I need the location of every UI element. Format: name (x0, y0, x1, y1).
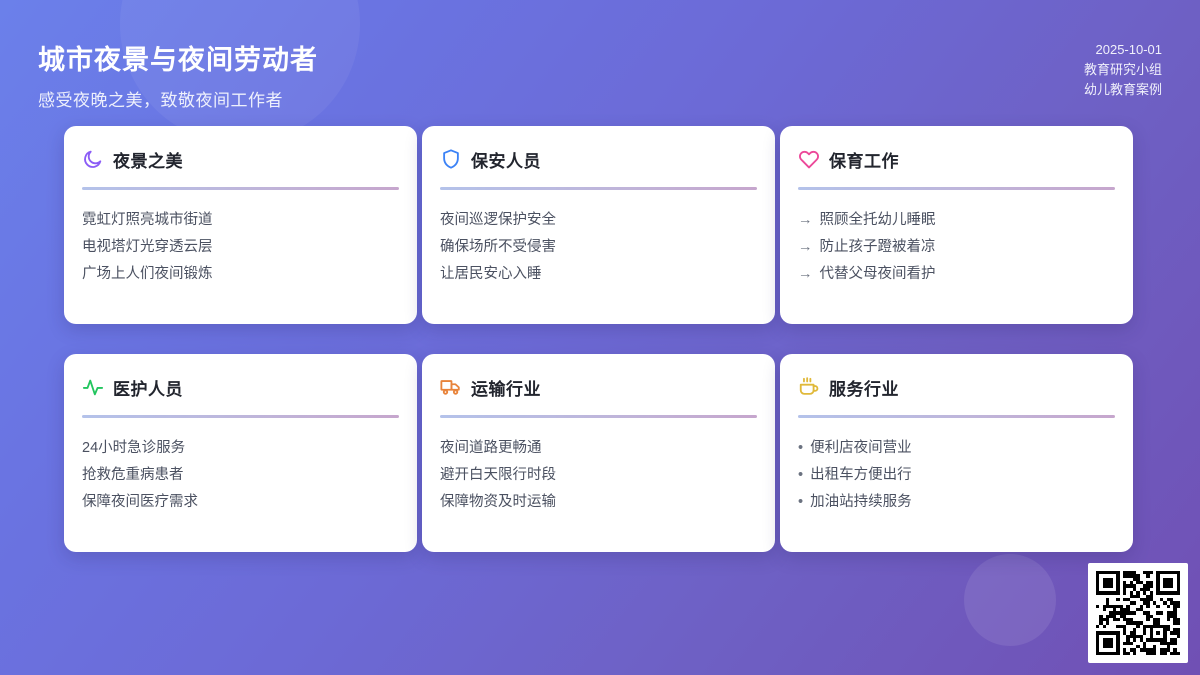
list-item-text: 夜间巡逻保护安全 (440, 207, 556, 234)
list-item-text: 广场上人们夜间锻炼 (82, 261, 213, 288)
list-item: 夜间道路更畅通 (440, 435, 757, 462)
card-item-list: •便利店夜间营业•出租车方便出行•加油站持续服务 (798, 435, 1115, 516)
list-marker: • (798, 462, 803, 489)
list-item-text: 保障夜间医疗需求 (82, 489, 198, 516)
list-item-text: 便利店夜间营业 (810, 435, 912, 462)
list-item-text: 出租车方便出行 (810, 462, 912, 489)
list-marker: • (798, 435, 803, 462)
slide-header: 城市夜景与夜间劳动者 感受夜晚之美，致敬夜间工作者 2025-10-01 教育研… (0, 0, 1200, 120)
list-marker: → (798, 261, 813, 288)
card-divider (798, 187, 1115, 190)
card-header: 运输行业 (440, 374, 757, 400)
card-header: 医护人员 (82, 374, 399, 400)
meta-category: 幼儿教育案例 (1084, 80, 1162, 100)
list-item: 电视塔灯光穿透云层 (82, 234, 399, 261)
qr-code[interactable] (1088, 563, 1188, 663)
card-item-list: 霓虹灯照亮城市街道电视塔灯光穿透云层广场上人们夜间锻炼 (82, 207, 399, 288)
activity-pulse-icon (82, 376, 104, 398)
info-card: 医护人员24小时急诊服务抢救危重病患者保障夜间医疗需求 (64, 354, 417, 552)
qr-code-matrix (1096, 571, 1180, 655)
list-item-text: 让居民安心入睡 (440, 261, 542, 288)
card-header: 服务行业 (798, 374, 1115, 400)
list-item: •出租车方便出行 (798, 462, 1115, 489)
list-item-text: 确保场所不受侵害 (440, 234, 556, 261)
info-card: 运输行业夜间道路更畅通避开白天限行时段保障物资及时运输 (422, 354, 775, 552)
card-divider (440, 187, 757, 190)
list-item-text: 加油站持续服务 (810, 489, 912, 516)
moon-icon (82, 148, 104, 170)
card-grid: 夜景之美霓虹灯照亮城市街道电视塔灯光穿透云层广场上人们夜间锻炼保安人员夜间巡逻保… (64, 126, 1150, 552)
list-item-text: 夜间道路更畅通 (440, 435, 542, 462)
list-item: 抢救危重病患者 (82, 462, 399, 489)
coffee-cup-icon (798, 376, 820, 398)
list-marker: → (798, 234, 813, 261)
card-header: 保安人员 (440, 146, 757, 172)
list-item: •加油站持续服务 (798, 489, 1115, 516)
list-item: 保障物资及时运输 (440, 489, 757, 516)
list-item: 避开白天限行时段 (440, 462, 757, 489)
info-card: 保安人员夜间巡逻保护安全确保场所不受侵害让居民安心入睡 (422, 126, 775, 324)
card-divider (440, 415, 757, 418)
header-meta: 2025-10-01 教育研究小组 幼儿教育案例 (1084, 40, 1162, 100)
card-divider (798, 415, 1115, 418)
list-item: →代替父母夜间看护 (798, 261, 1115, 288)
card-title: 服务行业 (829, 375, 899, 400)
meta-organization: 教育研究小组 (1084, 60, 1162, 80)
card-title: 保育工作 (829, 147, 899, 172)
card-divider (82, 415, 399, 418)
page-subtitle: 感受夜晚之美，致敬夜间工作者 (38, 86, 283, 111)
list-item: 霓虹灯照亮城市街道 (82, 207, 399, 234)
info-card: 夜景之美霓虹灯照亮城市街道电视塔灯光穿透云层广场上人们夜间锻炼 (64, 126, 417, 324)
card-title: 医护人员 (113, 375, 183, 400)
list-item-text: 防止孩子蹬被着凉 (820, 234, 936, 261)
list-item: 确保场所不受侵害 (440, 234, 757, 261)
list-marker: → (798, 207, 813, 234)
list-item: 24小时急诊服务 (82, 435, 399, 462)
heart-icon (798, 148, 820, 170)
list-item-text: 电视塔灯光穿透云层 (82, 234, 213, 261)
page-title: 城市夜景与夜间劳动者 (38, 38, 318, 77)
card-item-list: 24小时急诊服务抢救危重病患者保障夜间医疗需求 (82, 435, 399, 516)
list-item-text: 保障物资及时运输 (440, 489, 556, 516)
list-item-text: 代替父母夜间看护 (820, 261, 936, 288)
info-card: 服务行业•便利店夜间营业•出租车方便出行•加油站持续服务 (780, 354, 1133, 552)
card-item-list: 夜间道路更畅通避开白天限行时段保障物资及时运输 (440, 435, 757, 516)
list-marker: • (798, 489, 803, 516)
card-title: 保安人员 (471, 147, 541, 172)
meta-date: 2025-10-01 (1084, 40, 1162, 60)
card-divider (82, 187, 399, 190)
list-item: →照顾全托幼儿睡眠 (798, 207, 1115, 234)
card-header: 保育工作 (798, 146, 1115, 172)
card-item-list: 夜间巡逻保护安全确保场所不受侵害让居民安心入睡 (440, 207, 757, 288)
list-item: →防止孩子蹬被着凉 (798, 234, 1115, 261)
slide-root: 城市夜景与夜间劳动者 感受夜晚之美，致敬夜间工作者 2025-10-01 教育研… (0, 0, 1200, 675)
info-card: 保育工作→照顾全托幼儿睡眠→防止孩子蹬被着凉→代替父母夜间看护 (780, 126, 1133, 324)
list-item: 保障夜间医疗需求 (82, 489, 399, 516)
shield-icon (440, 148, 462, 170)
list-item: 让居民安心入睡 (440, 261, 757, 288)
list-item: 广场上人们夜间锻炼 (82, 261, 399, 288)
card-header: 夜景之美 (82, 146, 399, 172)
list-item: 夜间巡逻保护安全 (440, 207, 757, 234)
list-item: •便利店夜间营业 (798, 435, 1115, 462)
card-title: 夜景之美 (113, 147, 183, 172)
list-item-text: 照顾全托幼儿睡眠 (820, 207, 936, 234)
decor-circle-bottom (964, 554, 1056, 646)
truck-icon (440, 376, 462, 398)
list-item-text: 霓虹灯照亮城市街道 (82, 207, 213, 234)
list-item-text: 24小时急诊服务 (82, 435, 185, 462)
card-item-list: →照顾全托幼儿睡眠→防止孩子蹬被着凉→代替父母夜间看护 (798, 207, 1115, 288)
card-title: 运输行业 (471, 375, 541, 400)
list-item-text: 抢救危重病患者 (82, 462, 184, 489)
list-item-text: 避开白天限行时段 (440, 462, 556, 489)
